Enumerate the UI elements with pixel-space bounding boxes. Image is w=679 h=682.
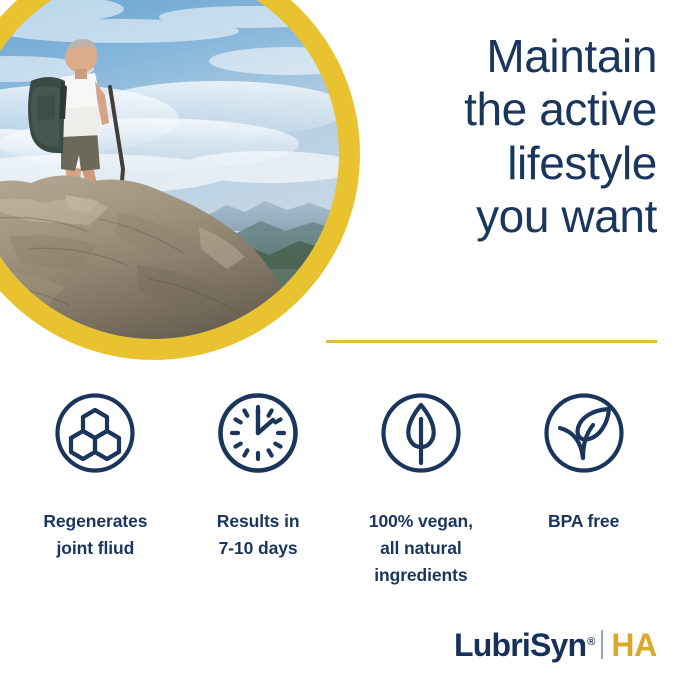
- hiker-on-mountain-summit-photo: [0, 0, 339, 339]
- gold-divider-rule: [326, 340, 657, 343]
- clock-icon: [217, 392, 299, 474]
- feature-list: Regenerates joint fliud: [14, 392, 665, 589]
- logo-divider: [601, 630, 603, 659]
- feature-item-100-percent-vegan: 100% vegan, all natural ingredients: [340, 392, 503, 589]
- feature-label: Results in 7-10 days: [217, 508, 300, 562]
- honeycomb-hexagons-icon: [54, 392, 136, 474]
- hero-circle: [0, 0, 360, 360]
- brand-logo: LubriSyn ® HA: [454, 627, 657, 664]
- feature-item-bpa-free: BPA free: [502, 392, 665, 535]
- feature-item-results-in-7-10-days: Results in 7-10 days: [177, 392, 340, 562]
- product-marketing-poster: Maintain the active lifestyle you want R…: [0, 0, 679, 682]
- feature-label: 100% vegan, all natural ingredients: [369, 508, 473, 589]
- leaf-icon: [380, 392, 462, 474]
- logo-suffix-text: HA: [611, 627, 657, 664]
- registered-trademark-icon: ®: [587, 636, 595, 648]
- gold-ring: [0, 0, 360, 360]
- page-title: Maintain the active lifestyle you want: [357, 30, 657, 243]
- logo-brand-text: LubriSyn: [454, 627, 586, 664]
- sprout-icon: [543, 392, 625, 474]
- feature-label: BPA free: [548, 508, 619, 535]
- feature-label: Regenerates joint fliud: [43, 508, 147, 562]
- feature-item-regenerates-joint-fluid: Regenerates joint fliud: [14, 392, 177, 562]
